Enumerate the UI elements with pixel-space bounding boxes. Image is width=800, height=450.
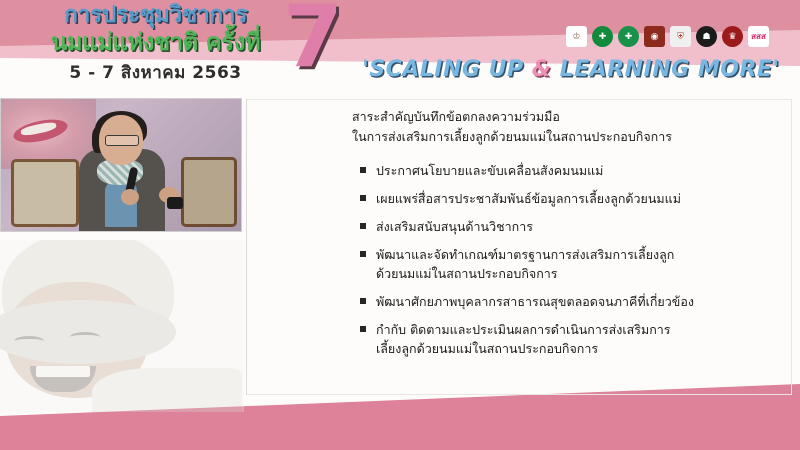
list-item-label: พัฒนาและจัดทำเกณฑ์มาตรฐานการส่งเสริมการเ…: [376, 247, 674, 281]
list-item: ส่งเสริมสนับสนุนด้านวิชาการ: [360, 217, 694, 236]
tagline-prefix: 'SCALING UP: [362, 57, 532, 82]
tagline-ampersand: &: [532, 57, 552, 82]
list-item: พัฒนาและจัดทำเกณฑ์มาตรฐานการส่งเสริมการเ…: [360, 245, 694, 283]
bullet-square-icon: [360, 223, 366, 229]
conference-date: 5 - 7 สิงหาคม 2563: [18, 59, 293, 86]
list-item: กำกับ ติดตามและประเมินผลการดำเนินการส่งเ…: [360, 320, 694, 358]
list-item-label: ประกาศนโยบายและขับเคลื่อนสังคมนมแม่: [376, 163, 603, 178]
conference-title-line1: การประชุมวิชาการ: [18, 2, 293, 29]
logo-government-seal-1-icon: ◉: [644, 26, 665, 47]
conference-title-line2: นมแม่แห่งชาติ ครั้งที่: [18, 29, 293, 56]
tagline-suffix: LEARNING MORE': [551, 57, 779, 82]
conference-title-block: การประชุมวิชาการ นมแม่แห่งชาติ ครั้งที่ …: [18, 2, 293, 86]
logo-ministry-public-health-2-icon: ✚: [618, 26, 639, 47]
child-teeth: [36, 366, 90, 377]
slide-content: สาระสำคัญบันทึกข้อตกลงความร่วมมือ ในการส…: [352, 107, 782, 367]
child-shoulder: [92, 368, 242, 412]
speaker-presentation-photo: [0, 98, 242, 232]
bullet-square-icon: [360, 195, 366, 201]
content-heading-line2: ในการส่งเสริมการเลี้ยงลูกด้วยนมแม่ในสถาน…: [352, 127, 782, 147]
logo-university-seal-icon: ☗: [696, 26, 717, 47]
media-column: [0, 98, 244, 232]
list-item-label: เผยแพร่สื่อสารประชาสัมพันธ์ข้อมูลการเลี้…: [376, 191, 681, 206]
presenter-remote: [167, 197, 183, 209]
edition-number: 7: [283, 0, 343, 80]
list-item-label: ส่งเสริมสนับสนุนด้านวิชาการ: [376, 219, 533, 234]
logo-royal-crest-icon: ♛: [722, 26, 743, 47]
list-item-label: กำกับ ติดตามและประเมินผลการดำเนินการส่งเ…: [376, 322, 671, 356]
bullet-square-icon: [360, 167, 366, 173]
logo-government-seal-2-icon: ⛨: [670, 26, 691, 47]
list-item: เผยแพร่สื่อสารประชาสัมพันธ์ข้อมูลการเลี้…: [360, 189, 694, 208]
smiling-child-watermark-photo: [0, 240, 244, 412]
armchair-right: [181, 157, 237, 227]
bullet-square-icon: [360, 298, 366, 304]
speaker-glasses: [105, 135, 139, 146]
armchair-left: [11, 159, 79, 227]
list-item: ประกาศนโยบายและขับเคลื่อนสังคมนมแม่: [360, 161, 694, 180]
speaker-hand-left: [121, 189, 139, 205]
logo-thaihealth-sss-icon: สสส: [748, 26, 769, 47]
conference-tagline: 'SCALING UP & LEARNING MORE': [362, 57, 780, 82]
child-eye-left: [14, 336, 44, 346]
content-heading: สาระสำคัญบันทึกข้อตกลงความร่วมมือ ในการส…: [352, 107, 782, 147]
logo-thai-royal-emblem-icon: ♔: [566, 26, 587, 47]
organiser-logo-row: ♔ ✚ ✚ ◉ ⛨ ☗ ♛ สสส: [566, 26, 769, 47]
agreement-bullet-list: ประกาศนโยบายและขับเคลื่อนสังคมนมแม่ เผยแ…: [360, 161, 782, 358]
bullet-square-icon: [360, 251, 366, 257]
logo-ministry-public-health-1-icon: ✚: [592, 26, 613, 47]
list-item-label: พัฒนาศักยภาพบุคลากรสาธารณสุขตลอดจนภาคีที…: [376, 294, 694, 309]
child-eye-right: [70, 332, 100, 342]
list-item: พัฒนาศักยภาพบุคลากรสาธารณสุขตลอดจนภาคีที…: [360, 292, 694, 311]
bullet-square-icon: [360, 326, 366, 332]
content-heading-line1: สาระสำคัญบันทึกข้อตกลงความร่วมมือ: [352, 107, 782, 127]
presentation-slide: การประชุมวิชาการ นมแม่แห่งชาติ ครั้งที่ …: [0, 0, 800, 450]
